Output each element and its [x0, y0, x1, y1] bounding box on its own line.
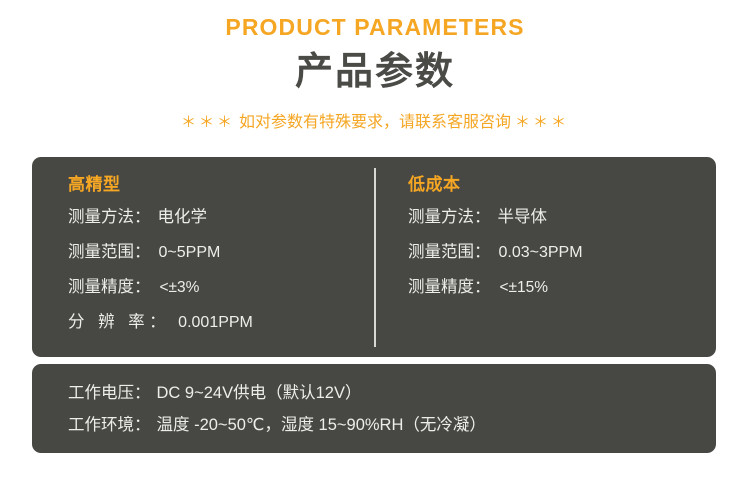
spec-column-low-cost: 低成本 测量方法： 半导体 测量范围： 0.03~3PPM 测量精度： <±15…: [374, 157, 716, 357]
page-subtitle-text: 如对参数有特殊要求，请联系客服咨询: [239, 114, 511, 131]
page-header: PRODUCT PARAMETERS 产品参数 ＊＊＊如对参数有特殊要求，请联系…: [0, 0, 750, 134]
operating-conditions-panel: 工作电压： DC 9~24V供电（默认12V） 工作环境： 温度 -20~50℃…: [32, 364, 716, 453]
spec-label-measurement-method: 测量方法：: [408, 200, 491, 235]
spec-row: 测量范围： 0~5PPM: [68, 235, 374, 270]
operating-row: 工作电压： DC 9~24V供电（默认12V）: [68, 377, 716, 409]
spec-column-heading-high-precision: 高精型: [68, 170, 374, 200]
spec-comparison-panel: 高精型 测量方法： 电化学 测量范围： 0~5PPM 测量精度： <±3% 分 …: [32, 157, 716, 357]
operating-label-environment: 工作环境：: [68, 409, 151, 441]
spec-column-high-precision: 高精型 测量方法： 电化学 测量范围： 0~5PPM 测量精度： <±3% 分 …: [32, 157, 374, 357]
spec-row: 测量方法： 电化学: [68, 200, 374, 235]
asterisk-decoration-right: ＊＊＊: [515, 114, 569, 131]
operating-row: 工作环境： 温度 -20~50℃，湿度 15~90%RH（无冷凝）: [68, 409, 716, 441]
spec-value-measurement-range: 0~5PPM: [159, 235, 221, 270]
spec-value-measurement-method: 电化学: [158, 200, 208, 235]
spec-row: 测量范围： 0.03~3PPM: [408, 235, 716, 270]
operating-value-environment: 温度 -20~50℃，湿度 15~90%RH（无冷凝）: [157, 409, 486, 441]
spec-label-resolution: 分 辨 率：: [68, 305, 170, 340]
spec-label-measurement-accuracy: 测量精度：: [68, 270, 151, 305]
spec-label-measurement-method: 测量方法：: [68, 200, 151, 235]
spec-row: 测量精度： <±15%: [408, 270, 716, 305]
page-subtitle: ＊＊＊如对参数有特殊要求，请联系客服咨询＊＊＊: [0, 112, 750, 134]
spec-row: 分 辨 率： 0.001PPM: [68, 305, 374, 340]
page-title-english: PRODUCT PARAMETERS: [0, 13, 750, 41]
spec-value-measurement-method: 半导体: [498, 200, 548, 235]
spec-label-measurement-range: 测量范围：: [408, 235, 491, 270]
spec-value-measurement-accuracy: <±15%: [500, 270, 549, 305]
spec-label-measurement-accuracy: 测量精度：: [408, 270, 491, 305]
spec-label-measurement-range: 测量范围：: [68, 235, 151, 270]
spec-value-resolution: 0.001PPM: [178, 305, 253, 340]
operating-value-voltage: DC 9~24V供电（默认12V）: [157, 377, 362, 409]
spec-row: 测量精度： <±3%: [68, 270, 374, 305]
spec-value-measurement-accuracy: <±3%: [160, 270, 200, 305]
spec-column-heading-low-cost: 低成本: [408, 170, 716, 200]
asterisk-decoration-left: ＊＊＊: [181, 114, 235, 131]
operating-label-voltage: 工作电压：: [68, 377, 151, 409]
page-title-chinese: 产品参数: [0, 47, 750, 97]
spec-value-measurement-range: 0.03~3PPM: [499, 235, 583, 270]
spec-row: 测量方法： 半导体: [408, 200, 716, 235]
column-divider: [374, 168, 376, 347]
